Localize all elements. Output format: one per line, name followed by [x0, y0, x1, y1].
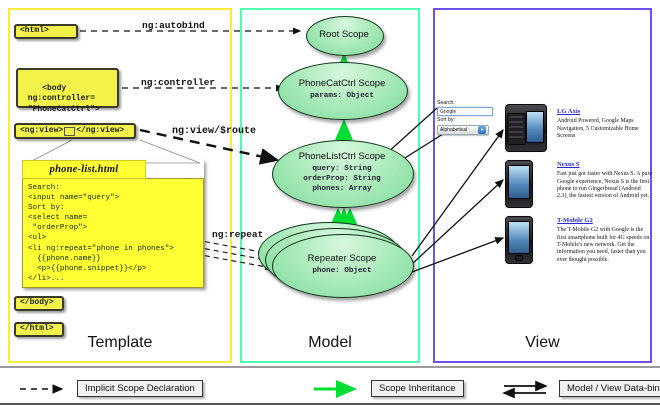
html-close-tag: </html>	[14, 322, 64, 337]
legend-label-implicit-scope-declaration: Implicit Scope Declaration	[77, 380, 203, 397]
phone-name-link[interactable]: LG Axis	[557, 108, 653, 116]
legend-label-scope-inheritance: Scope Inheritance	[371, 380, 464, 397]
phone-snippet: Fast just got faster with Nexus S. A pur…	[557, 171, 653, 200]
scope-phonecatctrl: PhoneCatCtrl Scope params: Object	[278, 62, 406, 118]
html-open-tag: <html>	[14, 24, 78, 39]
sort-select-value: Alphabetical	[440, 127, 467, 133]
search-input[interactable]: Google	[437, 107, 493, 116]
scope-phonelistctrl-name: PhoneListCtrl Scope	[299, 151, 386, 162]
body-open-tag: <body ng:controller= "PhoneCatCtrl">	[16, 68, 119, 108]
ngview-slot-icon	[64, 127, 75, 136]
html-open-tag-text: <html>	[20, 26, 49, 36]
phone-snippet: Android Powered, Google Maps Navigation,…	[557, 118, 653, 140]
legend-item-implicit-scope-declaration: Implicit Scope Declaration	[18, 372, 203, 405]
ngview-open-text: <ng:view>	[20, 126, 63, 136]
sort-select[interactable]: Alphabetical ▾	[437, 125, 489, 135]
scope-phonecatctrl-name: PhoneCatCtrl Scope	[299, 78, 386, 89]
double-arrow-icon	[500, 379, 552, 399]
scope-root: Root Scope	[306, 16, 382, 54]
panel-label-view: View	[433, 334, 652, 352]
phone-name-link[interactable]: T-Mobile G2	[557, 217, 653, 225]
scope-phonelistctrl: PhoneListCtrl Scope query: String orderP…	[272, 140, 412, 206]
ngview-close-text: </ng:view>	[76, 126, 124, 136]
ngview-tag: <ng:view></ng:view>	[14, 123, 136, 139]
scope-repeater-stack: Repeater Scope phone: Object	[272, 234, 412, 296]
legend-top-divider	[0, 366, 660, 368]
sort-label: Sort by:	[437, 117, 495, 124]
green-arrow-icon	[312, 379, 364, 399]
body-close-tag-text: </body>	[20, 298, 54, 308]
scope-repeater-props: phone: Object	[312, 267, 371, 277]
phone-image-nexus-s	[505, 160, 531, 206]
scope-root-name: Root Scope	[319, 29, 369, 40]
scope-phonelistctrl-props: query: String orderProp: String phones: …	[303, 165, 380, 195]
legend: Implicit Scope Declaration Scope Inherit…	[0, 372, 660, 405]
chevron-down-icon: ▾	[478, 126, 486, 134]
body-open-tag-text: <body ng:controller= "PhoneCatCtrl">	[23, 84, 100, 113]
phone-list-template-callout: Search: <input name="query"> Sort by: <s…	[22, 160, 204, 288]
scope-repeater-name: Repeater Scope	[308, 253, 377, 264]
dashed-arrow-icon	[18, 379, 70, 399]
phone-list-filename: phone-list.html	[22, 160, 146, 179]
body-close-tag: </body>	[14, 296, 64, 311]
phone-name-link[interactable]: Nexus S	[557, 161, 653, 169]
search-label: Search:	[437, 100, 495, 107]
phone-snippet: The T-Mobile G2 with Google is the first…	[557, 227, 653, 264]
phone-image-t-mobile-g2	[505, 216, 531, 262]
legend-item-model-view-data-binding: Model / View Data-binding	[500, 372, 660, 405]
html-close-tag-text: </html>	[20, 324, 54, 334]
view-search-form: Search: Google Sort by: Alphabetical ▾	[437, 100, 495, 135]
panel-label-model: Model	[240, 334, 420, 352]
legend-label-model-view-data-binding: Model / View Data-binding	[559, 380, 660, 397]
diagram-canvas: <html> <body ng:controller= "PhoneCatCtr…	[0, 0, 660, 405]
scope-phonecatctrl-props: params: Object	[310, 92, 374, 102]
phone-list-code: Search: <input name="query"> Sort by: <s…	[22, 178, 204, 288]
phone-image-lg-axis	[505, 104, 545, 150]
legend-item-scope-inheritance: Scope Inheritance	[312, 372, 464, 405]
